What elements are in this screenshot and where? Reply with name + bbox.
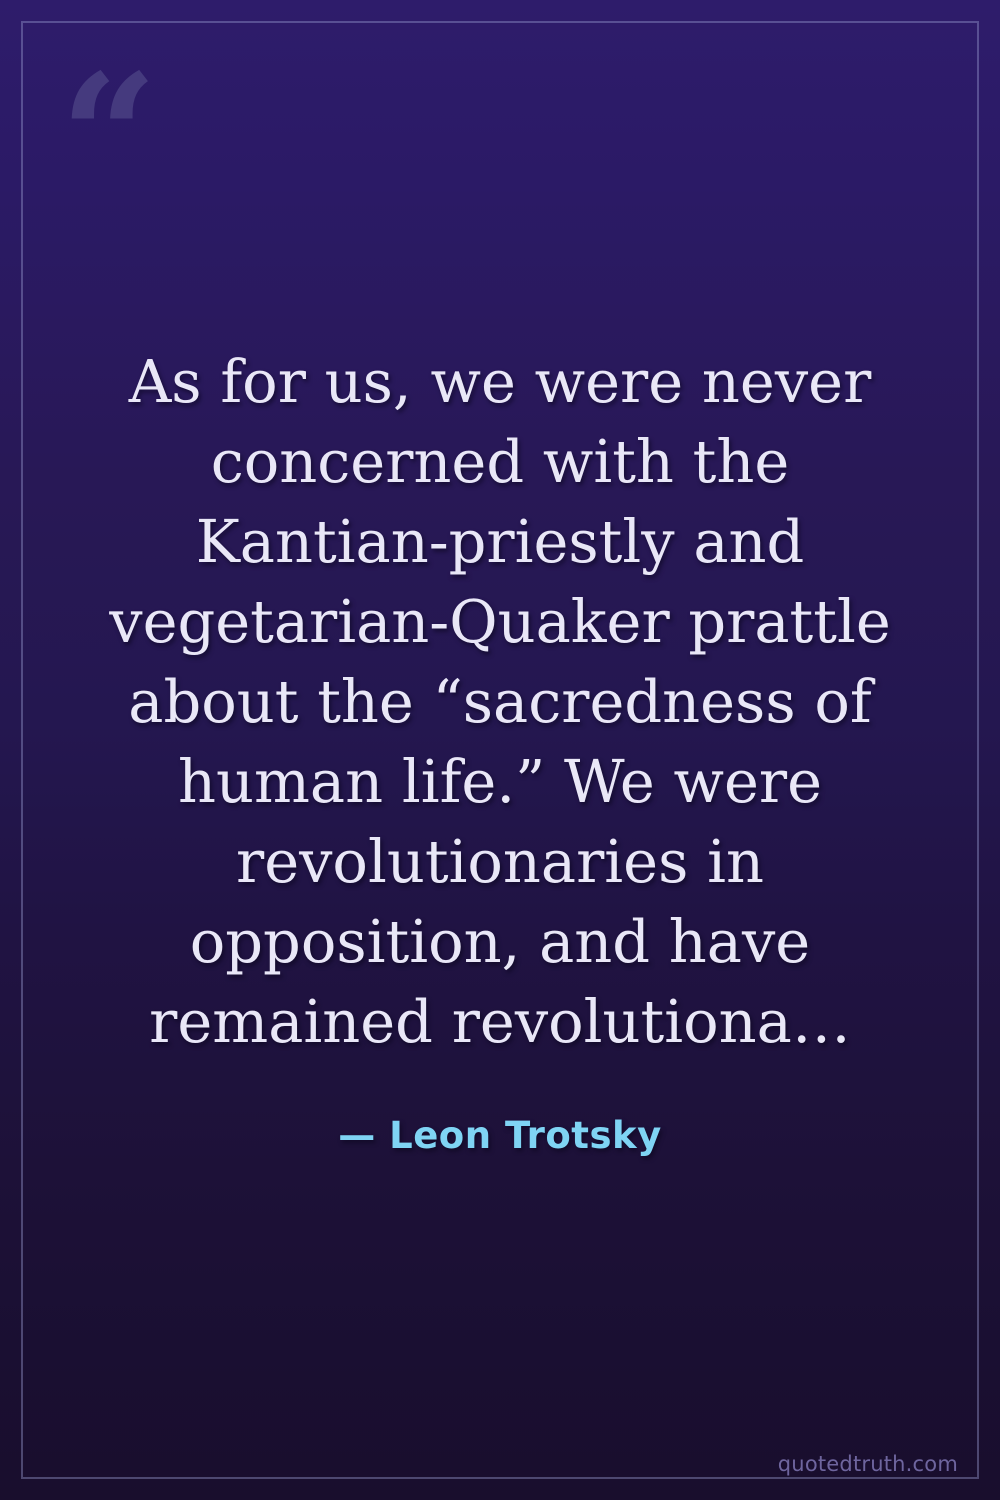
site-watermark: quotedtruth.com: [778, 1452, 958, 1476]
quote-content-block: As for us, we were never concerned with …: [0, 0, 1000, 1500]
quote-text: As for us, we were never concerned with …: [100, 342, 900, 1062]
quote-author: — Leon Trotsky: [338, 1114, 661, 1158]
quote-card: “ As for us, we were never concerned wit…: [0, 0, 1000, 1500]
